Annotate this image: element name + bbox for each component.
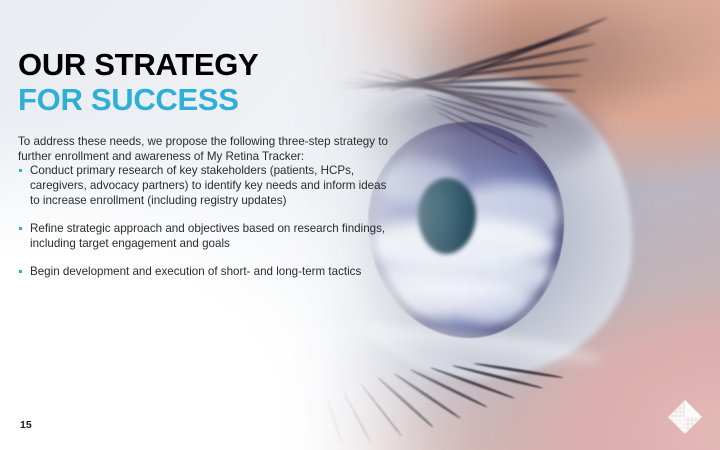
list-item-text: Refine strategic approach and objectives… [30, 222, 385, 250]
slide-canvas: OUR STRATEGY FOR SUCCESS To address thes… [0, 0, 720, 450]
bullet-marker-icon [19, 227, 22, 230]
list-item: Conduct primary research of key stakehol… [18, 163, 398, 208]
list-item-text: Conduct primary research of key stakehol… [30, 164, 386, 207]
intro-paragraph: To address these needs, we propose the f… [18, 134, 390, 164]
diamond-arrow-logo [662, 394, 708, 440]
title-line-2: FOR SUCCESS [18, 84, 258, 115]
diamond-arrow-icon [662, 394, 708, 440]
page-number: 15 [20, 419, 32, 431]
list-item: Refine strategic approach and objectives… [18, 221, 398, 251]
bullet-marker-icon [19, 169, 22, 172]
strategy-bullet-list: Conduct primary research of key stakehol… [18, 163, 398, 279]
page-title: OUR STRATEGY FOR SUCCESS [18, 49, 258, 115]
list-item: Begin development and execution of short… [18, 264, 398, 279]
list-item-text: Begin development and execution of short… [30, 265, 361, 278]
title-line-1: OUR STRATEGY [18, 49, 258, 80]
bullet-marker-icon [19, 270, 22, 273]
